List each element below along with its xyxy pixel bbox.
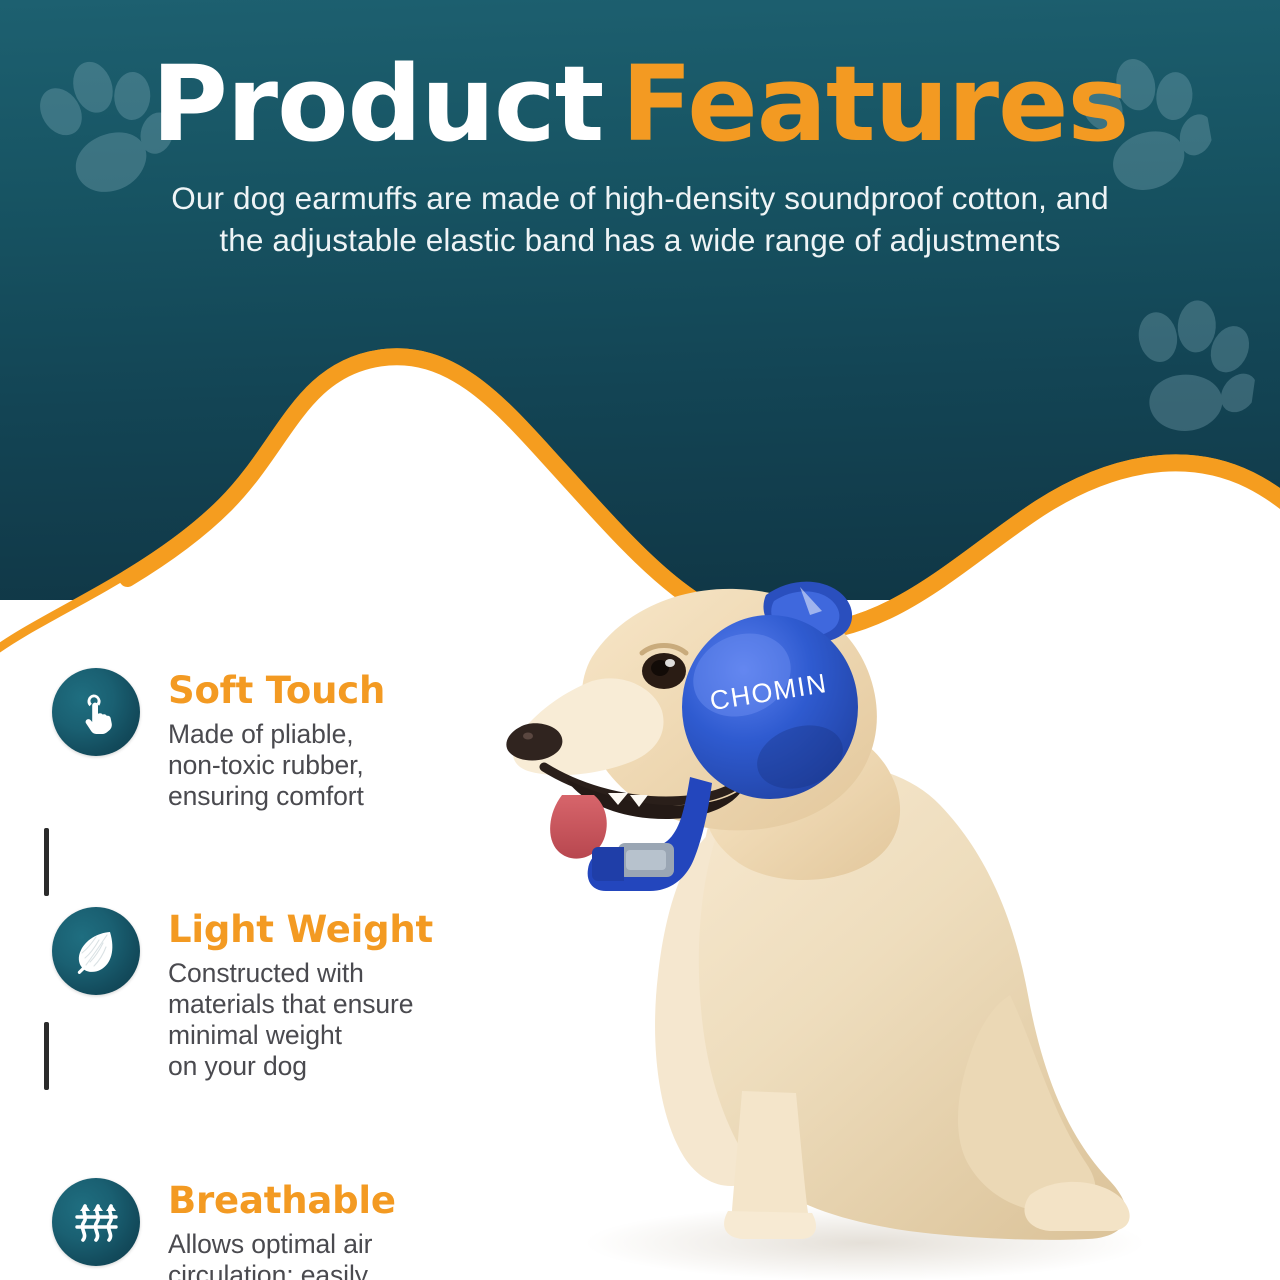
feature-desc-line: materials that ensure: [168, 989, 433, 1020]
feature-text-block: Breathable Allows optimal air circulatio…: [168, 1178, 396, 1280]
feature-item-breathable[interactable]: Breathable Allows optimal air circulatio…: [52, 1178, 522, 1280]
feature-title: Soft Touch: [168, 672, 385, 709]
feature-connector-line: [44, 1022, 49, 1090]
feature-title: Breathable: [168, 1182, 396, 1219]
feature-desc-line: Allows optimal air: [168, 1229, 396, 1260]
feature-description: Allows optimal air circulation; easily m…: [168, 1229, 396, 1280]
page-title: ProductFeatures: [0, 52, 1280, 156]
feature-list: Soft Touch Made of pliable, non-toxic ru…: [52, 668, 522, 1280]
feature-desc-line: on your dog: [168, 1051, 433, 1082]
feature-connector-line: [44, 828, 49, 896]
feature-description: Made of pliable, non-toxic rubber, ensur…: [168, 719, 385, 812]
header-subtitle: Our dog earmuffs are made of high-densit…: [70, 178, 1210, 261]
feature-desc-line: circulation; easily: [168, 1260, 396, 1280]
subtitle-line-2: the adjustable elastic band has a wide r…: [70, 220, 1210, 262]
airflow-breathable-icon: [52, 1178, 140, 1266]
dog-wearing-earmuffs-photo: CHOMIN: [470, 495, 1190, 1280]
feature-desc-line: ensuring comfort: [168, 781, 385, 812]
feature-desc-line: Made of pliable,: [168, 719, 385, 750]
feature-item-soft-touch[interactable]: Soft Touch Made of pliable, non-toxic ru…: [52, 668, 522, 812]
infographic-root: ProductFeatures Our dog earmuffs are mad…: [0, 0, 1280, 1280]
feature-desc-line: Constructed with: [168, 958, 433, 989]
feature-text-block: Soft Touch Made of pliable, non-toxic ru…: [168, 668, 385, 812]
title-word-features: Features: [621, 43, 1128, 165]
pointing-hand-touch-icon: [52, 668, 140, 756]
feature-title: Light Weight: [168, 911, 433, 948]
title-word-product: Product: [152, 43, 604, 165]
feather-icon: [52, 907, 140, 995]
feature-description: Constructed with materials that ensure m…: [168, 958, 433, 1082]
feature-desc-line: minimal weight: [168, 1020, 433, 1051]
feature-item-light-weight[interactable]: Light Weight Constructed with materials …: [52, 907, 522, 1082]
subtitle-line-1: Our dog earmuffs are made of high-densit…: [70, 178, 1210, 220]
feature-text-block: Light Weight Constructed with materials …: [168, 907, 433, 1082]
feature-desc-line: non-toxic rubber,: [168, 750, 385, 781]
